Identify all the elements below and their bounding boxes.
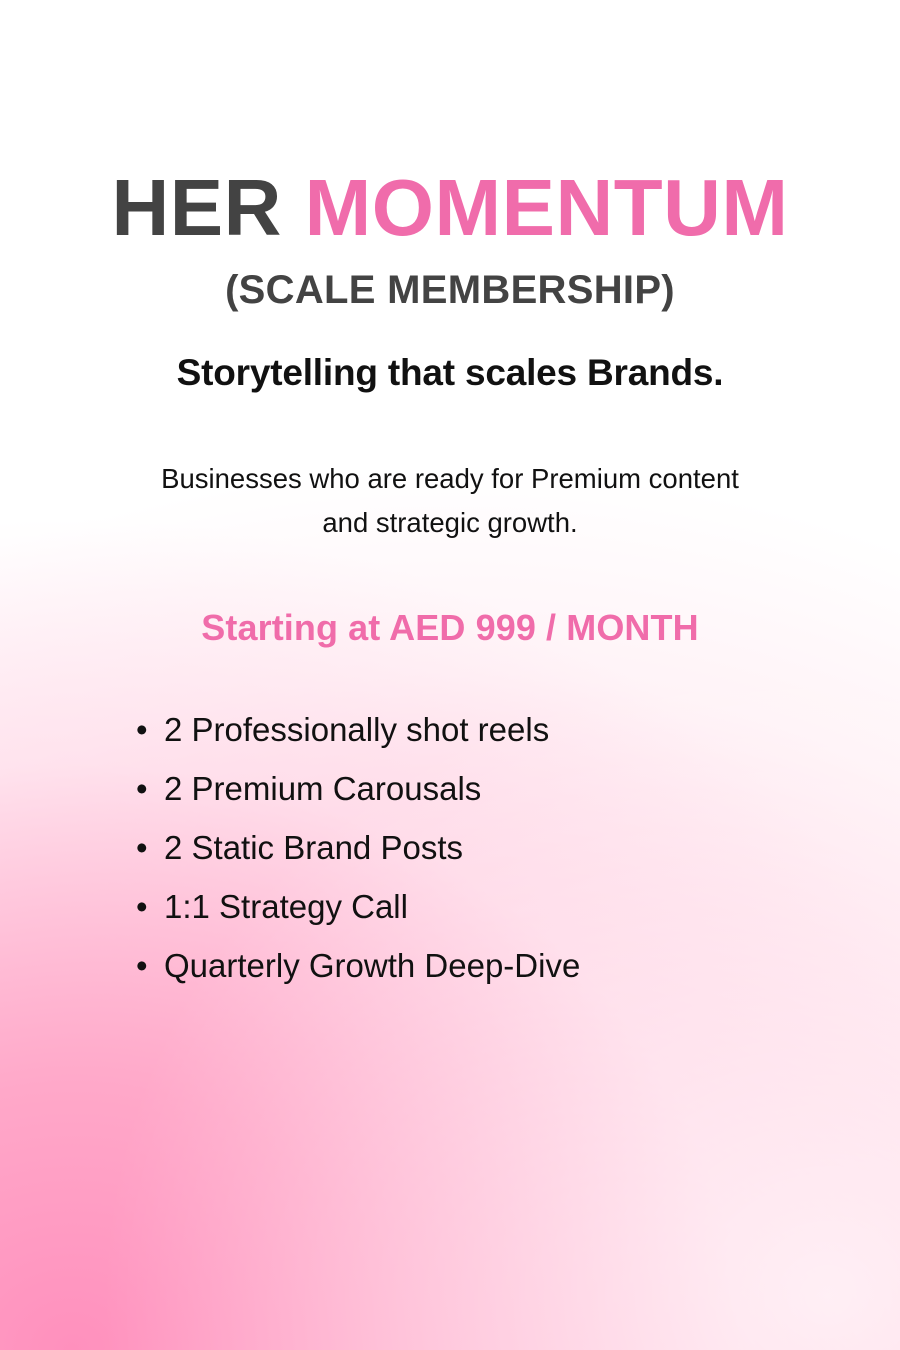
feature-label: 2 Static Brand Posts bbox=[164, 831, 776, 864]
feature-label: Quarterly Growth Deep-Dive bbox=[164, 949, 776, 982]
list-item: • Quarterly Growth Deep-Dive bbox=[124, 949, 776, 1008]
page-title: HER MOMENTUM bbox=[0, 0, 900, 248]
tagline: Storytelling that scales Brands. bbox=[0, 310, 900, 393]
feature-label: 2 Premium Carousals bbox=[164, 772, 776, 805]
description-text: Businesses who are ready for Premium con… bbox=[150, 393, 750, 546]
bullet-icon: • bbox=[136, 890, 164, 923]
features-list: • 2 Professionally shot reels • 2 Premiu… bbox=[0, 646, 900, 1008]
price-label: Starting at AED 999 / MONTH bbox=[0, 546, 900, 646]
title-word-her: HER bbox=[111, 163, 281, 252]
list-item: • 2 Premium Carousals bbox=[124, 772, 776, 831]
list-item: • 1:1 Strategy Call bbox=[124, 890, 776, 949]
bullet-icon: • bbox=[136, 772, 164, 805]
title-word-momentum: MOMENTUM bbox=[305, 163, 789, 252]
title-space bbox=[282, 163, 305, 252]
bullet-icon: • bbox=[136, 949, 164, 982]
poster-content: HER MOMENTUM (SCALE MEMBERSHIP) Storytel… bbox=[0, 0, 900, 1008]
list-item: • 2 Static Brand Posts bbox=[124, 831, 776, 890]
membership-poster: HER MOMENTUM (SCALE MEMBERSHIP) Storytel… bbox=[0, 0, 900, 1350]
bullet-icon: • bbox=[136, 831, 164, 864]
feature-label: 2 Professionally shot reels bbox=[164, 713, 776, 746]
bullet-icon: • bbox=[136, 713, 164, 746]
feature-label: 1:1 Strategy Call bbox=[164, 890, 776, 923]
page-subtitle: (SCALE MEMBERSHIP) bbox=[0, 248, 900, 310]
list-item: • 2 Professionally shot reels bbox=[124, 713, 776, 772]
